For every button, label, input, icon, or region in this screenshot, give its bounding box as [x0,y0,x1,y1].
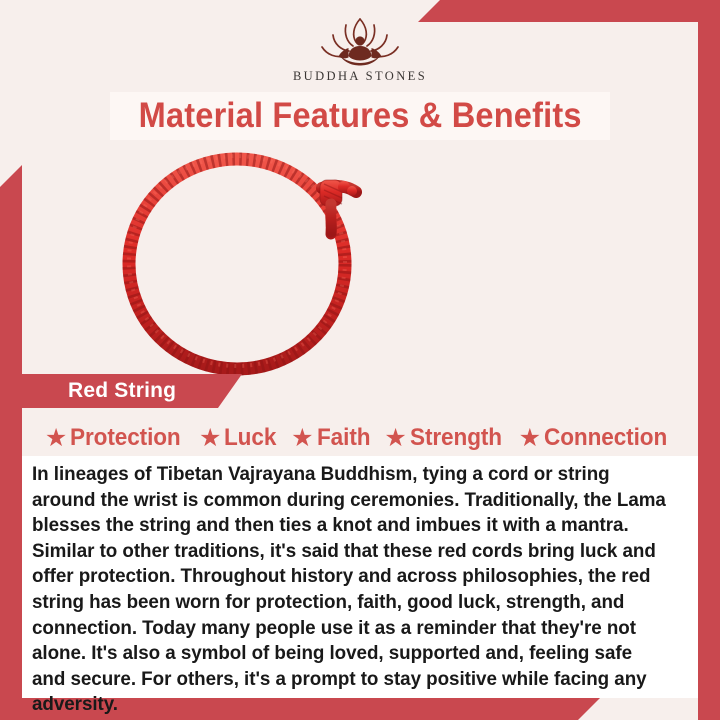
feature-label: Protection [70,424,181,452]
description-text: In lineages of Tibetan Vajrayana Buddhis… [32,462,666,718]
page-title-band: Material Features & Benefits [110,92,610,140]
feature-label: Faith [317,424,370,452]
star-icon: ★ [291,426,313,451]
feature-item-strength: ★ Strength [384,424,507,452]
brand-name: BUDDHA STONES [293,69,427,84]
feature-item-connection: ★ Connection [519,424,675,452]
description-block: In lineages of Tibetan Vajrayana Buddhis… [22,456,698,698]
red-string-bracelet-illustration [22,146,698,378]
product-image [22,146,698,378]
feature-label: Connection [544,424,667,452]
feature-list: ★ Protection ★ Luck ★ Faith ★ Strength ★… [22,420,698,456]
product-label: Red String [22,379,176,403]
feature-label: Strength [410,424,502,452]
feature-item-luck: ★ Luck [199,424,280,452]
frame-band-left [0,165,22,720]
brand-logo: BUDDHA STONES [0,16,720,92]
product-label-ribbon: Red String [22,374,242,408]
star-icon: ★ [384,426,406,451]
feature-item-protection: ★ Protection [45,424,188,452]
feature-label: Luck [224,424,276,452]
material-features-poster: BUDDHA STONES Material Features & Benefi… [0,0,720,720]
star-icon: ★ [199,426,221,451]
feature-item-faith: ★ Faith [291,424,373,452]
star-icon: ★ [45,426,67,451]
page-title: Material Features & Benefits [139,96,582,136]
star-icon: ★ [519,426,541,451]
lotus-meditation-icon [300,16,420,68]
frame-band-right [698,0,720,720]
